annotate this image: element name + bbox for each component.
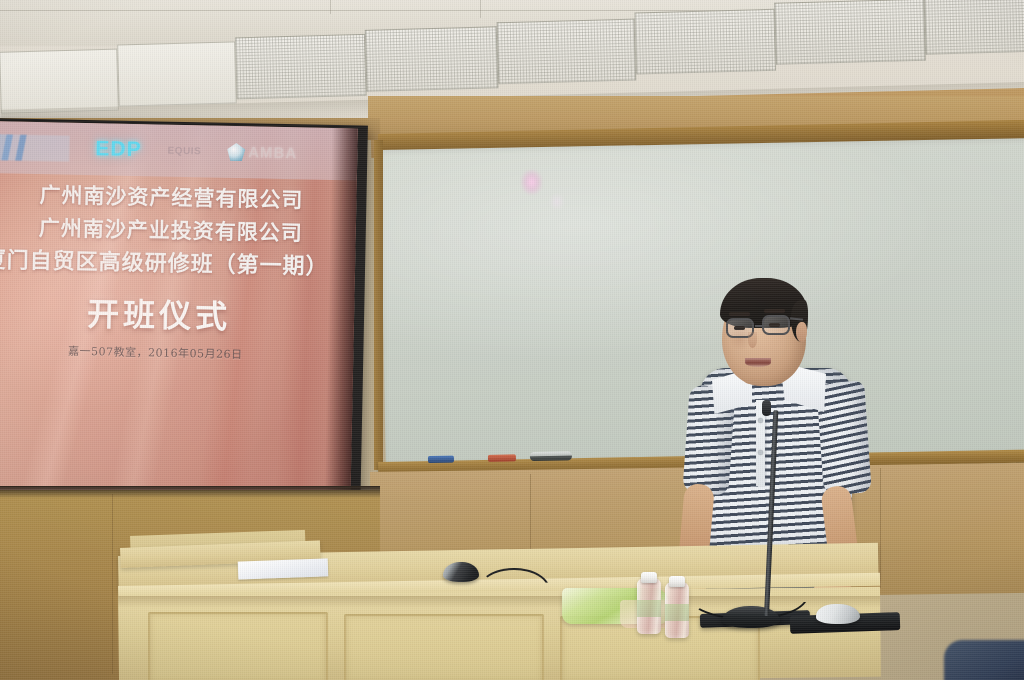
mouth xyxy=(745,358,771,367)
ear xyxy=(796,322,807,342)
shirt-button-icon xyxy=(758,418,763,423)
eye-right xyxy=(769,323,780,327)
podium-panel xyxy=(148,612,328,680)
podium-panel xyxy=(344,614,544,680)
bottle-cap-icon xyxy=(641,572,657,583)
microphone-head-icon xyxy=(762,400,771,416)
computer-mouse-right[interactable] xyxy=(816,604,860,624)
microphone-base xyxy=(722,606,780,628)
bottle-label xyxy=(637,600,661,617)
photo-scene: EDP EQUIS AMBA 广州南沙资产经营有限公司 广州南沙产业投资有限公司… xyxy=(0,0,1024,680)
eye-left xyxy=(734,326,745,330)
glasses-bridge xyxy=(755,325,764,327)
shirt-button-icon xyxy=(758,450,763,455)
bottle-label xyxy=(665,604,689,621)
nose xyxy=(748,332,757,348)
printed-sheet[interactable] xyxy=(238,558,329,579)
bottle-cap-icon xyxy=(669,576,685,587)
eyebrow-right xyxy=(764,309,785,313)
computer-mouse-left[interactable] xyxy=(443,562,479,582)
eyebrow-left xyxy=(729,312,750,316)
audience-chair xyxy=(944,640,1024,680)
